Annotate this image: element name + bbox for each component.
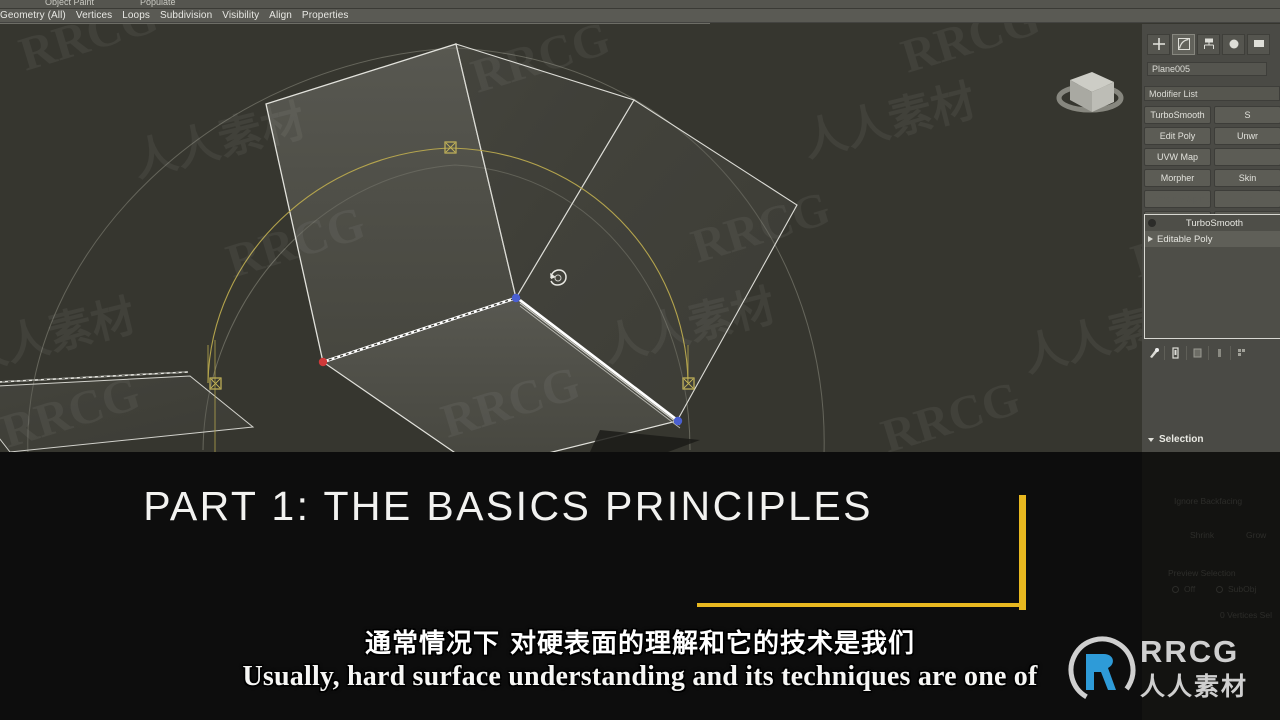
dim-label-ignore-backfacing: Ignore Backfacing — [1174, 496, 1242, 506]
logo-text: RRCG — [1140, 634, 1239, 670]
modifier-row: TurboSmooth S — [1144, 106, 1280, 124]
modify-tab[interactable] — [1172, 34, 1195, 55]
chevron-right-icon[interactable] — [1148, 236, 1153, 242]
pin-stack-icon[interactable] — [1144, 343, 1163, 363]
menu-item-align[interactable]: Align — [264, 9, 297, 23]
motion-circle-icon — [1227, 37, 1241, 51]
hierarchy-tab[interactable] — [1197, 34, 1220, 55]
modifier-row: Morpher Skin — [1144, 169, 1280, 187]
dim-label-subobj[interactable]: SubObj — [1228, 584, 1256, 594]
menu-item-properties[interactable]: Properties — [297, 9, 354, 23]
page-title: PART 1: THE BASICS PRINCIPLES — [0, 483, 1016, 530]
stack-item-label: TurboSmooth — [1160, 218, 1280, 229]
hierarchy-icon — [1202, 37, 1216, 51]
toolbar-divider — [1164, 346, 1165, 360]
toolbar-divider — [1208, 346, 1209, 360]
modifier-button-edit-poly[interactable]: Edit Poly — [1144, 127, 1211, 145]
ribbon-label-populate[interactable]: Populate — [140, 0, 176, 7]
toolbar-divider — [1230, 346, 1231, 360]
modifier-button-turbosmooth[interactable]: TurboSmooth — [1144, 106, 1211, 124]
rrcg-emblem-icon — [1064, 632, 1140, 708]
rollout-selection[interactable]: Selection — [1144, 434, 1280, 445]
ribbon-label-object-paint[interactable]: Object Paint — [45, 0, 94, 7]
show-end-result-icon[interactable] — [1166, 343, 1185, 363]
dim-label-status: 0 Vertices Sel — [1220, 610, 1272, 620]
modifier-button-morpher[interactable]: Morpher — [1144, 169, 1211, 187]
make-unique-icon[interactable] — [1188, 343, 1207, 363]
view-cube — [1059, 72, 1121, 112]
modifier-button-unwrap[interactable]: Unwr — [1214, 127, 1280, 145]
display-tab[interactable] — [1247, 34, 1270, 55]
object-name-field[interactable]: Plane005 — [1147, 62, 1267, 76]
menubar-divider — [0, 23, 710, 24]
modifier-button-ed[interactable]: Ed — [1214, 190, 1280, 208]
menu-item-subdivision[interactable]: Subdivision — [155, 9, 217, 23]
modifier-list-dropdown[interactable]: Modifier List — [1144, 86, 1280, 101]
geometry-menubar[interactable]: Geometry (All) Vertices Loops Subdivisio… — [0, 9, 1280, 23]
accent-bar-horizontal — [697, 603, 1026, 607]
dim-label-off[interactable]: Off — [1184, 584, 1195, 594]
menu-item-geometry-all[interactable]: Geometry (All) — [0, 9, 71, 23]
toolbar-divider — [1186, 346, 1187, 360]
stack-item-editable-poly[interactable]: Editable Poly — [1145, 231, 1280, 247]
modifier-row: UVW Map — [1144, 148, 1280, 166]
remove-modifier-icon[interactable] — [1210, 343, 1229, 363]
modifier-row: Edit Poly Unwr — [1144, 127, 1280, 145]
stack-item-label: Editable Poly — [1157, 234, 1212, 245]
modifier-button-normalize-spline[interactable]: Normalize Spline — [1144, 190, 1211, 208]
plus-icon — [1152, 37, 1166, 51]
light-bulb-icon[interactable] — [1148, 219, 1156, 227]
radio-subobj[interactable] — [1216, 586, 1223, 593]
modifier-button-skin[interactable]: Skin — [1214, 169, 1280, 187]
radio-off[interactable] — [1172, 586, 1179, 593]
motion-tab[interactable] — [1222, 34, 1245, 55]
dim-label-grow[interactable]: Grow — [1246, 530, 1266, 540]
modifier-row: Normalize Spline Ed — [1144, 190, 1280, 208]
create-tab[interactable] — [1147, 34, 1170, 55]
accent-bar-vertical — [1019, 495, 1026, 610]
menu-item-visibility[interactable]: Visibility — [217, 9, 264, 23]
chevron-down-icon[interactable] — [1148, 438, 1154, 442]
modifier-stack[interactable]: TurboSmooth Editable Poly — [1144, 214, 1280, 339]
modify-curve-icon — [1177, 37, 1191, 51]
stack-toolbar[interactable] — [1144, 342, 1280, 364]
modifier-button-uvw-map[interactable]: UVW Map — [1144, 148, 1211, 166]
display-icon — [1252, 37, 1266, 51]
screenshot-root: RRCG RRCG RRCG 人人素材 人人素材 RRCG RRCG RRCG … — [0, 0, 1280, 720]
modifier-button-blank[interactable] — [1214, 148, 1280, 166]
dim-label-shrink[interactable]: Shrink — [1190, 530, 1214, 540]
logo-text-chinese: 人人素材 — [1140, 667, 1248, 703]
menu-item-vertices[interactable]: Vertices — [71, 9, 117, 23]
rollout-title: Selection — [1159, 434, 1203, 445]
menu-item-loops[interactable]: Loops — [117, 9, 155, 23]
configure-sets-icon[interactable] — [1232, 343, 1251, 363]
stack-item-turbosmooth[interactable]: TurboSmooth — [1145, 215, 1280, 231]
modifier-button-s[interactable]: S — [1214, 106, 1280, 124]
command-panel-tabs[interactable] — [1142, 32, 1280, 56]
dim-label-preview-selection: Preview Selection — [1168, 568, 1236, 578]
rrcg-logo: RRCG 人人素材 — [1064, 630, 1272, 710]
